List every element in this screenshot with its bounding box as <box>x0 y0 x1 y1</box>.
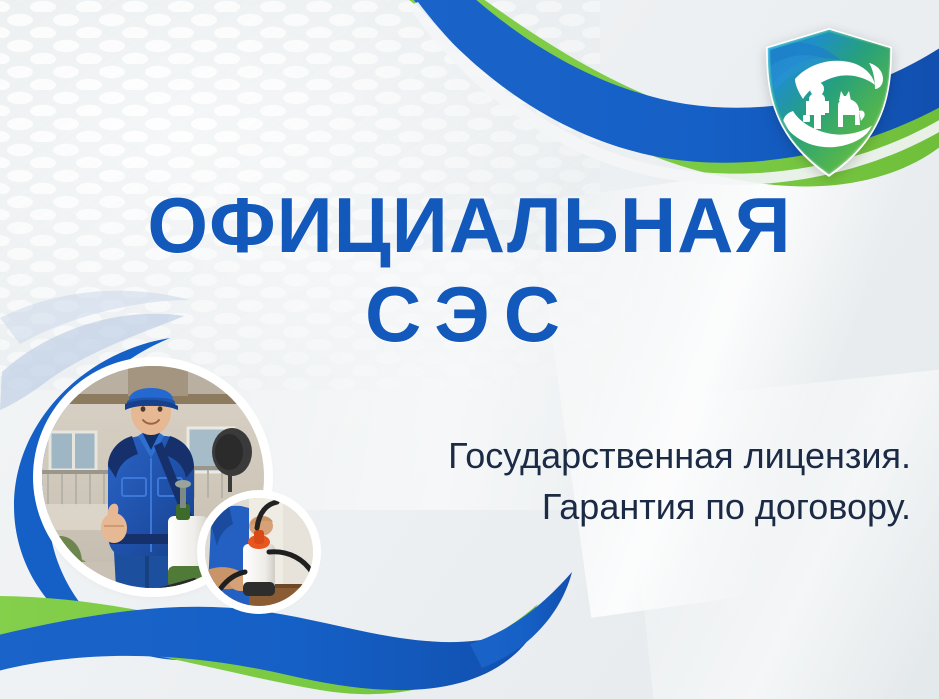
bottom-blue-ribbon-tip <box>470 572 572 668</box>
subtitle-block: Государственная лицензия. Гарантия по до… <box>251 430 911 532</box>
subtitle-line-1: Государственная лицензия. <box>251 430 911 481</box>
headline-block: ОФИЦИАЛЬНАЯ СЭС <box>0 186 939 356</box>
subtitle-line-2: Гарантия по договору. <box>251 481 911 532</box>
promo-banner: ОФИЦИАЛЬНАЯ СЭС Государственная лицензия… <box>0 0 939 699</box>
bottom-green-ribbon <box>0 596 538 694</box>
shield-logo <box>761 27 897 179</box>
headline-line-1: ОФИЦИАЛЬНАЯ <box>0 186 939 264</box>
blue-crescent-arc-tail <box>140 630 222 660</box>
sprayer-closeup-photo <box>205 498 313 606</box>
headline-line-2: СЭС <box>0 274 939 356</box>
bottom-blue-ribbon <box>0 607 540 690</box>
